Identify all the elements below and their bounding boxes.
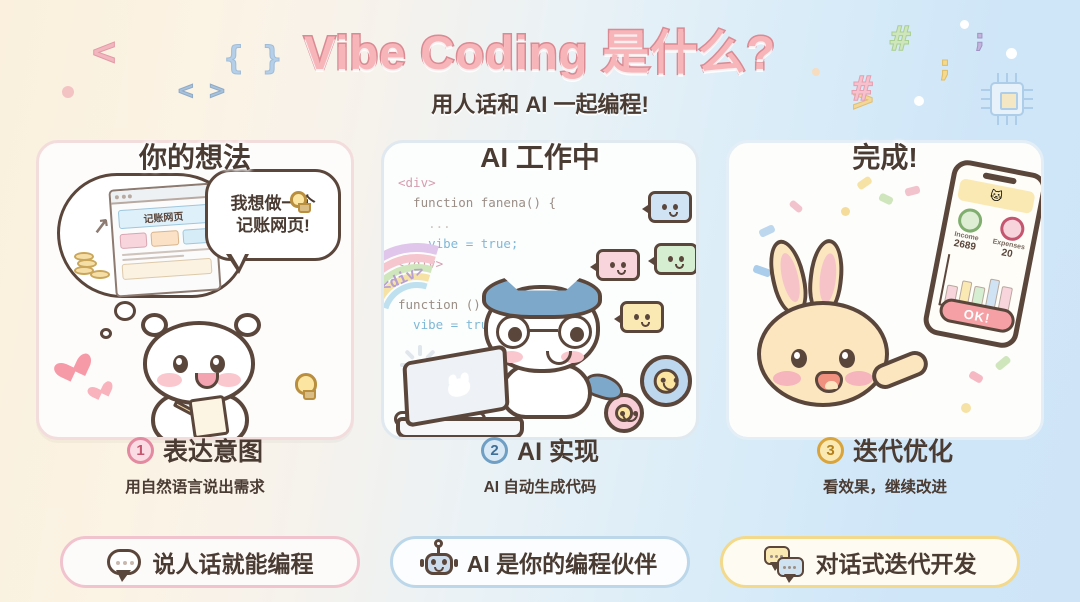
gear-blue-icon — [640, 355, 692, 407]
code-line-0: <div> — [398, 175, 436, 190]
panel-title-working: AI 工作中 — [381, 136, 699, 176]
lightbulb-icon — [295, 373, 317, 395]
cat-glasses-right — [558, 315, 592, 349]
bear-blush-left — [157, 373, 182, 387]
phone-mockup: 🐱 Income 2689 Expenses 20 — [921, 157, 1044, 350]
phone-star-right-icon — [1013, 193, 1029, 209]
code-line-2: ... — [398, 216, 451, 231]
cat-mouth — [546, 351, 572, 365]
confetti-4 — [856, 175, 873, 190]
rabbit-blush-left — [773, 371, 801, 386]
bear-head — [143, 321, 255, 405]
income-icon — [956, 206, 984, 234]
chat-square-pink — [596, 249, 640, 281]
step-1-desc: 用自然语言说出需求 — [36, 475, 354, 497]
phone-stat-income: Income 2689 — [943, 205, 992, 255]
phone-stat-expenses: Expenses 20 — [985, 213, 1034, 263]
banner-1-label: 说人话就能编程 — [153, 545, 314, 579]
panel-working: AI 工作中 <div> function fanena() { ... vib… — [381, 140, 699, 450]
rabbit-head — [757, 301, 889, 407]
laptop-screen — [402, 344, 509, 428]
bear-character — [135, 321, 267, 440]
confetti-dot-2 — [961, 403, 971, 413]
thought-tail-big — [114, 301, 136, 321]
page-title: Vibe Coding 是什么? — [304, 14, 776, 83]
thought-tail-small — [100, 328, 112, 339]
steps-row: 1 表达意图 用自然语言说出需求 2 AI 实现 AI 自动生成代码 3 迭代优… — [0, 432, 1080, 510]
panel-done-card: 🐱 Income 2689 Expenses 20 — [726, 140, 1044, 440]
speech-tail — [226, 254, 249, 274]
rabbit-eye-left — [791, 349, 807, 368]
step-2-desc: AI 自动生成代码 — [381, 475, 699, 497]
banners-row: 说人话就能编程 AI 是你的编程伙伴 对话式迭代开发 — [0, 536, 1080, 592]
confetti-6 — [904, 185, 921, 197]
chat-square-yellow — [620, 301, 664, 333]
phone-cat-icon: 🐱 — [989, 188, 1004, 204]
rabbit-blush-right — [845, 371, 873, 386]
chat-square-green — [654, 243, 698, 275]
cat-glasses-bridge — [528, 329, 558, 332]
laptop-icon — [396, 353, 524, 439]
confetti-3 — [788, 199, 803, 213]
step-1-name: 表达意图 — [163, 432, 263, 468]
lightbulb-small-icon — [290, 191, 307, 208]
confetti-1 — [758, 224, 776, 238]
panels-row: 你的想法 ↗ 记账网页 — [0, 140, 1080, 450]
banner-natural-language[interactable]: 说人话就能编程 — [60, 536, 360, 588]
speech-bubble: 我想做一个 记账网页! — [205, 169, 341, 261]
step-2: 2 AI 实现 AI 自动生成代码 — [381, 432, 699, 510]
chat-bubbles-icon — [764, 546, 804, 578]
cat-glasses-left — [496, 315, 530, 349]
banner-2-label: AI 是你的编程伙伴 — [467, 545, 657, 579]
heart-big-icon — [56, 346, 86, 375]
confetti-dot-1 — [841, 207, 850, 216]
panel-title-idea: 你的想法 — [36, 136, 354, 176]
banner-iterative-dev[interactable]: 对话式迭代开发 — [720, 536, 1020, 588]
confetti-9 — [968, 370, 984, 384]
speech-line-2: 记账网页! — [236, 216, 310, 235]
bear-mouth — [195, 373, 219, 389]
bear-eye-right — [210, 355, 225, 373]
step-3-desc: 看效果，继续改进 — [726, 475, 1044, 497]
arrow-up-icon: ↗ — [90, 213, 112, 241]
step-3-number: 3 — [817, 437, 844, 464]
browser-footer — [122, 258, 213, 280]
phone-star-left-icon — [963, 183, 979, 199]
banner-ai-partner[interactable]: AI 是你的编程伙伴 — [390, 536, 690, 588]
rabbit-character — [747, 239, 915, 439]
heart-small-icon — [89, 376, 109, 396]
banner-3-label: 对话式迭代开发 — [816, 545, 977, 579]
phone-stats: Income 2689 Expenses 20 — [943, 205, 1036, 264]
confetti-8 — [994, 355, 1011, 371]
step-2-name: AI 实现 — [517, 432, 599, 468]
sparkle-panel1-b — [305, 343, 323, 361]
step-2-number: 2 — [481, 437, 508, 464]
panel-title-done: 完成! — [726, 136, 1044, 176]
code-line-1: function fanena() { — [398, 195, 556, 210]
step-1: 1 表达意图 用自然语言说出需求 — [36, 432, 354, 510]
bear-eye-left — [173, 355, 188, 373]
rabbit-eye-right — [839, 349, 855, 368]
panel-idea-card: ↗ 记账网页 — [36, 140, 354, 440]
step-3: 3 迭代优化 看效果，继续改进 — [726, 432, 1044, 510]
chat-bubble-icon — [107, 549, 141, 575]
robot-icon — [423, 547, 455, 577]
sparkle-panel1-a — [269, 311, 299, 341]
panel-done: 完成! — [726, 140, 1044, 450]
cat-hair — [482, 273, 602, 319]
page-subtitle: 用人话和 AI 一起编程! — [0, 87, 1080, 119]
expenses-icon — [998, 215, 1026, 243]
sparkle-panel3-a — [915, 187, 941, 213]
rabbit-mouth — [815, 371, 843, 393]
browser-titlebar — [110, 185, 213, 205]
step-1-number: 1 — [127, 437, 154, 464]
step-3-name: 迭代优化 — [853, 432, 953, 468]
header: Vibe Coding 是什么? 用人话和 AI 一起编程! — [0, 14, 1080, 119]
cat-logo-icon — [448, 377, 471, 399]
panel-working-card: <div> function fanena() { ... vibe = tru… — [381, 140, 699, 440]
confetti-5 — [878, 192, 894, 205]
chat-square-blue — [648, 191, 692, 223]
panel-idea: 你的想法 ↗ 记账网页 — [36, 140, 354, 450]
bear-blush-right — [216, 373, 241, 387]
